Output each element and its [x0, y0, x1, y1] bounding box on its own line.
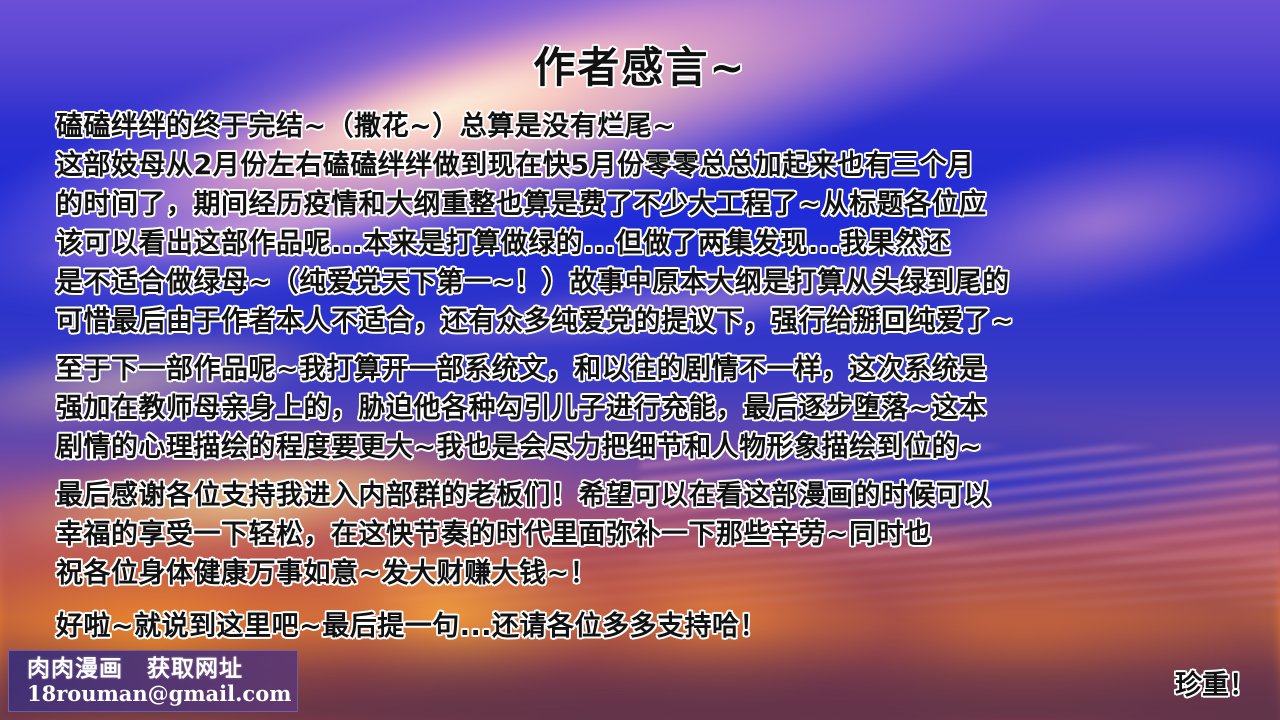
- page-title: 作者感言~: [0, 34, 1280, 95]
- watermark-title: 肉肉漫画 获取网址: [27, 657, 297, 681]
- body-line: 剧情的心理描绘的程度要更大~我也是会尽力把细节和人物形象描绘到位的~: [56, 425, 982, 464]
- watermark-email: 18rouman@gmail.com: [27, 682, 297, 705]
- body-line: 强加在教师母亲身上的，胁迫他各种勾引儿子进行充能，最后逐步堕落~这本: [56, 386, 987, 425]
- body-line: 可惜最后由于作者本人不适合，还有众多纯爱党的提议下，强行给掰回纯爱了~: [56, 299, 1014, 338]
- body-line: 是不适合做绿母~（纯爱党天下第一~！）故事中原本大纲是打算从头绿到尾的: [56, 260, 1010, 299]
- body-line: 幸福的享受一下轻松，在这快节奏的时代里面弥补一下那些辛劳~同时也: [56, 512, 932, 551]
- afterword-page: 作者感言~ 磕磕绊绊的终于完结~（撒花~）总算是没有烂尾~ 这部妓母从2月份左右…: [0, 0, 1280, 720]
- watermark-box: 肉肉漫画 获取网址 18rouman@gmail.com: [8, 650, 298, 712]
- body-line: 好啦~就说到这里吧~最后提一句...还请各位多多支持哈！: [56, 604, 767, 643]
- body-line: 这部妓母从2月份左右磕磕绊绊做到现在快5月份零零总总加起来也有三个月: [56, 143, 975, 182]
- body-line: 至于下一部作品呢~我打算开一部系统文，和以往的剧情不一样，这次系统是: [56, 347, 987, 386]
- text-layer: 作者感言~ 磕磕绊绊的终于完结~（撒花~）总算是没有烂尾~ 这部妓母从2月份左右…: [0, 0, 1280, 720]
- body-line: 最后感谢各位支持我进入内部群的老板们！希望可以在看这部漫画的时候可以: [56, 473, 991, 512]
- sign-off-text: 珍重！: [1175, 663, 1256, 702]
- body-line: 该可以看出这部作品呢...本来是打算做绿的...但做了两集发现...我果然还: [56, 221, 950, 260]
- body-line: 磕磕绊绊的终于完结~（撒花~）总算是没有烂尾~: [56, 104, 675, 143]
- body-line: 祝各位身体健康万事如意~发大财赚大钱~！: [56, 551, 597, 590]
- body-line: 的时间了，期间经历疫情和大纲重整也算是费了不少大工程了~从标题各位应: [56, 182, 987, 221]
- page-title-text: 作者感言~: [533, 34, 746, 95]
